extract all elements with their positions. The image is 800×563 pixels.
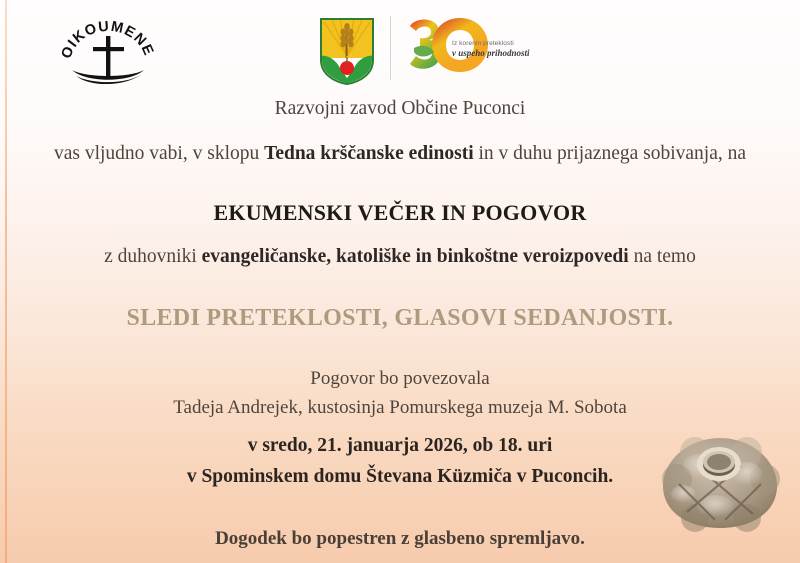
30-anniversary-logo: Iz korenin preteklosti v uspeho prihodno… [404, 14, 544, 86]
organizer-line: Razvojni zavod Občine Puconci [0, 98, 800, 120]
oikoumene-logo: OIKOUMENE [52, 12, 164, 90]
event-subtitle-line: z duhovniki evangeličanske, katoliške in… [0, 246, 800, 268]
moderator-intro: Pogovor bo povezovala [0, 368, 800, 390]
anniversary-slogan-line2: v uspeho prihodnosti [452, 48, 544, 58]
logo-divider [390, 16, 391, 80]
round-bread-photo [655, 424, 785, 542]
anniversary-slogan: Iz korenin preteklosti v uspeho prihodno… [452, 40, 544, 59]
moderator-name: Tadeja Andrejek, kustosinja Pomurskega m… [0, 397, 800, 419]
invitation-prefix: vas vljudno vabi, v sklopu [54, 143, 264, 164]
subtitle-prefix: z duhovniki [104, 246, 202, 267]
invitation-line: vas vljudno vabi, v sklopu Tedna krščans… [0, 143, 800, 165]
invitation-highlight: Tedna krščanske edinosti [264, 143, 474, 164]
event-title: EKUMENSKI VEČER IN POGOVOR [0, 200, 800, 226]
puconci-coat-of-arms [318, 16, 376, 86]
subtitle-highlight: evangeličanske, katoliške in binkoštne v… [202, 246, 629, 267]
subtitle-suffix: na temo [629, 246, 696, 267]
event-theme: SLEDI PRETEKLOSTI, GLASOVI SEDANJOSTI. [0, 305, 800, 332]
anniversary-slogan-line1: Iz korenin preteklosti [452, 40, 544, 47]
poster-canvas: OIKOUMENE [0, 0, 800, 563]
invitation-suffix: in v duhu prijaznega sobivanja, na [474, 143, 746, 164]
header-logo-bar: OIKOUMENE [0, 0, 800, 96]
